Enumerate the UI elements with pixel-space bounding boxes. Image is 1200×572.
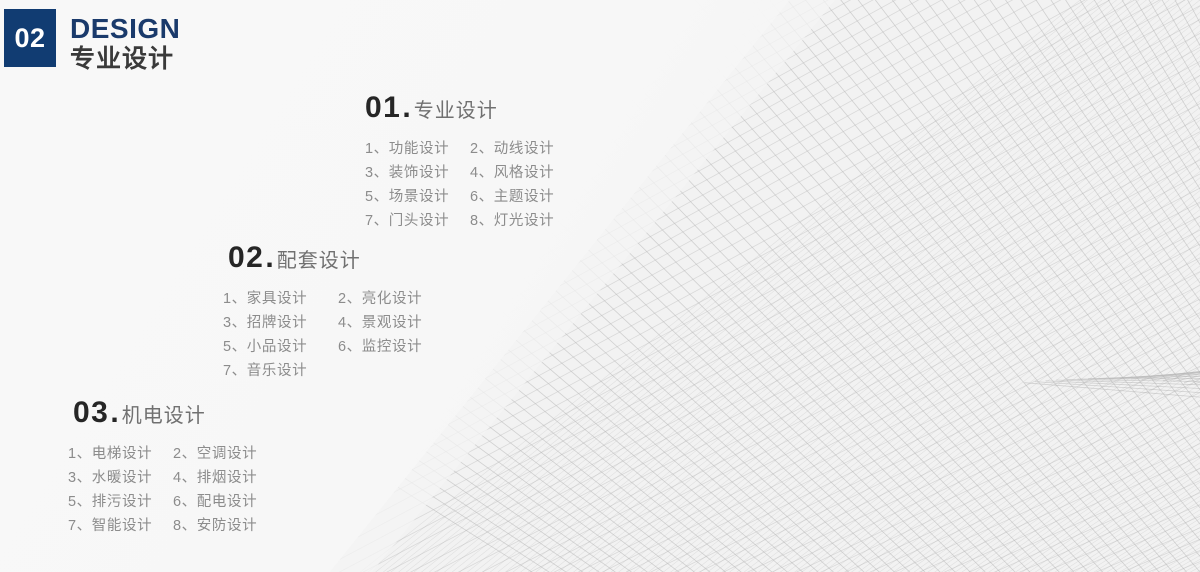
header-title-cn: 专业设计 [70, 45, 180, 73]
list-item: 3、水暖设计 [68, 469, 173, 488]
section-02-label: 配套设计 [277, 251, 361, 271]
list-row: 1、电梯设计 2、空调设计 [68, 445, 278, 464]
list-item: 5、小品设计 [223, 338, 338, 357]
list-item: 4、排烟设计 [173, 469, 278, 488]
section-01-label: 专业设计 [414, 101, 498, 121]
list-row: 1、家具设计 2、亮化设计 [223, 290, 453, 309]
list-row: 3、装饰设计 4、风格设计 [365, 164, 575, 183]
section-number-badge: 02 [4, 9, 56, 67]
list-item: 4、景观设计 [338, 314, 453, 333]
list-item: 4、风格设计 [470, 164, 575, 183]
section-03-dot: . [110, 398, 118, 428]
list-item: 7、智能设计 [68, 517, 173, 536]
list-row: 5、小品设计 6、监控设计 [223, 338, 453, 357]
list-item: 7、音乐设计 [223, 362, 338, 381]
list-item [338, 362, 453, 381]
list-row: 3、水暖设计 4、排烟设计 [68, 469, 278, 488]
section-03-number: 03 [73, 398, 109, 428]
header-text-group: DESIGN 专业设计 [70, 14, 180, 73]
header-title-en: DESIGN [70, 14, 180, 44]
section-03-heading: 03 . 机电设计 [73, 398, 278, 428]
section-02: 02 . 配套设计 1、家具设计 2、亮化设计 3、招牌设计 4、景观设计 5、… [228, 243, 453, 386]
list-item: 8、安防设计 [173, 517, 278, 536]
section-02-heading: 02 . 配套设计 [228, 243, 453, 273]
section-02-number: 02 [228, 243, 264, 273]
list-row: 5、场景设计 6、主题设计 [365, 188, 575, 207]
badge-number-text: 02 [14, 25, 45, 52]
list-row: 1、功能设计 2、动线设计 [365, 140, 575, 159]
list-item: 2、动线设计 [470, 140, 575, 159]
section-01: 01 . 专业设计 1、功能设计 2、动线设计 3、装饰设计 4、风格设计 5、… [365, 93, 575, 236]
list-item: 6、配电设计 [173, 493, 278, 512]
list-row: 7、智能设计 8、安防设计 [68, 517, 278, 536]
section-03-label: 机电设计 [122, 406, 206, 426]
section-01-number: 01 [365, 93, 401, 123]
list-item: 1、家具设计 [223, 290, 338, 309]
section-02-list: 1、家具设计 2、亮化设计 3、招牌设计 4、景观设计 5、小品设计 6、监控设… [223, 290, 453, 381]
list-item: 3、装饰设计 [365, 164, 470, 183]
list-item: 5、场景设计 [365, 188, 470, 207]
list-item: 2、亮化设计 [338, 290, 453, 309]
list-item: 6、监控设计 [338, 338, 453, 357]
list-row: 3、招牌设计 4、景观设计 [223, 314, 453, 333]
list-item: 6、主题设计 [470, 188, 575, 207]
list-row: 7、门头设计 8、灯光设计 [365, 212, 575, 231]
list-row: 7、音乐设计 [223, 362, 453, 381]
section-01-heading: 01 . 专业设计 [365, 93, 575, 123]
list-item: 8、灯光设计 [470, 212, 575, 231]
section-02-dot: . [265, 243, 273, 273]
list-item: 1、电梯设计 [68, 445, 173, 464]
list-item: 1、功能设计 [365, 140, 470, 159]
section-01-dot: . [402, 93, 410, 123]
list-item: 7、门头设计 [365, 212, 470, 231]
list-item: 2、空调设计 [173, 445, 278, 464]
section-03-list: 1、电梯设计 2、空调设计 3、水暖设计 4、排烟设计 5、排污设计 6、配电设… [68, 445, 278, 536]
list-row: 5、排污设计 6、配电设计 [68, 493, 278, 512]
slide-canvas: 02 DESIGN 专业设计 01 . 专业设计 1、功能设计 2、动线设计 3… [0, 0, 1200, 572]
section-01-list: 1、功能设计 2、动线设计 3、装饰设计 4、风格设计 5、场景设计 6、主题设… [365, 140, 575, 231]
section-03: 03 . 机电设计 1、电梯设计 2、空调设计 3、水暖设计 4、排烟设计 5、… [73, 398, 278, 541]
list-item: 3、招牌设计 [223, 314, 338, 333]
slide-header: 02 DESIGN 专业设计 [4, 9, 180, 73]
list-item: 5、排污设计 [68, 493, 173, 512]
